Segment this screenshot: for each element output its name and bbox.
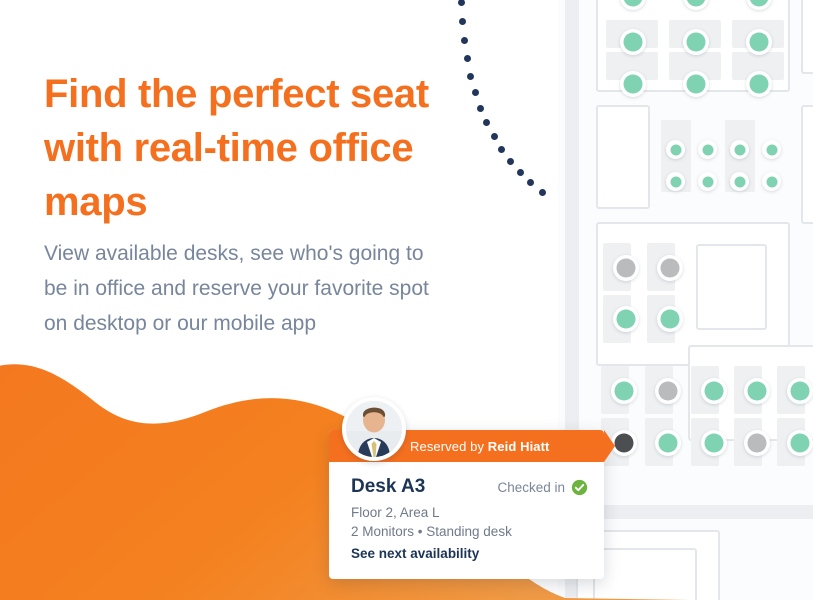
- arc-dot: [539, 189, 546, 196]
- room-mid-phone-booth: [596, 105, 650, 209]
- page-title: Find the perfect seat with real-time off…: [44, 67, 474, 229]
- card-body: Checked in Desk A3 Floor 2, Area L 2 Mon…: [329, 462, 604, 579]
- seat-marker-dot: [624, 33, 643, 52]
- seat-marker-available[interactable]: [683, 29, 709, 55]
- seat-marker-available[interactable]: [701, 378, 727, 404]
- seat-marker-dot: [624, 75, 643, 94]
- room-south-outline-inner: [593, 548, 697, 600]
- hero-illustration: Find the perfect seat with real-time off…: [0, 0, 813, 600]
- seat-marker-dot: [766, 176, 777, 187]
- arc-dot: [517, 169, 524, 176]
- seat-marker-available[interactable]: [683, 71, 709, 97]
- dotted-pointer-arc: [440, 0, 560, 204]
- seat-marker-dot: [624, 0, 643, 7]
- desk-location: Floor 2, Area L: [351, 503, 588, 522]
- seat-marker-dot: [750, 75, 769, 94]
- seat-marker-available[interactable]: [620, 29, 646, 55]
- seat-marker-available[interactable]: [657, 306, 683, 332]
- seat-marker-available[interactable]: [620, 71, 646, 97]
- avatar: [342, 397, 406, 461]
- room-central-inner: [696, 244, 767, 330]
- seat-marker-dot: [661, 310, 680, 329]
- arc-dot: [458, 0, 465, 6]
- arc-dot: [507, 158, 514, 165]
- card-reservation-banner: Reserved by Reid Hiatt: [329, 430, 604, 462]
- seat-marker-dot: [670, 176, 681, 187]
- seat-marker-available[interactable]: [746, 29, 772, 55]
- seat-marker-dot: [766, 144, 777, 155]
- seat-marker-dot: [670, 144, 681, 155]
- room-mid-east-b: [801, 105, 813, 224]
- arc-dot: [467, 73, 474, 80]
- seat-marker-occupied[interactable]: [744, 430, 770, 456]
- seat-marker-available[interactable]: [730, 172, 749, 191]
- seat-marker-dot: [659, 382, 678, 401]
- arc-dot: [472, 89, 479, 96]
- seat-marker-available[interactable]: [746, 71, 772, 97]
- seat-marker-dot: [750, 33, 769, 52]
- seat-marker-available[interactable]: [701, 430, 727, 456]
- reservation-banner-text: Reserved by Reid Hiatt: [410, 439, 549, 454]
- arc-dot: [498, 146, 505, 153]
- seat-marker-available[interactable]: [744, 378, 770, 404]
- seat-marker-dot: [702, 144, 713, 155]
- arc-dot: [483, 119, 490, 126]
- seat-marker-dot: [687, 0, 706, 7]
- desk-detail-card[interactable]: Reserved by Reid Hiatt Checked in Desk A…: [329, 430, 604, 579]
- page-subtitle: View available desks, see who's going to…: [44, 236, 434, 341]
- seat-marker-dot: [661, 259, 680, 278]
- seat-marker-dot: [734, 144, 745, 155]
- seat-marker-dot: [702, 176, 713, 187]
- seat-marker-available[interactable]: [666, 140, 685, 159]
- seat-marker-available[interactable]: [787, 430, 813, 456]
- seat-marker-dot: [617, 259, 636, 278]
- seat-marker-dot: [705, 434, 724, 453]
- seat-marker-occupied[interactable]: [613, 255, 639, 281]
- seat-marker-available[interactable]: [698, 172, 717, 191]
- seat-marker-dot: [687, 33, 706, 52]
- reserved-by-name: Reid Hiatt: [488, 439, 550, 454]
- check-circle-icon: [571, 479, 588, 496]
- arc-dot: [459, 18, 466, 25]
- reid-hiatt-avatar-photo: [346, 401, 402, 457]
- seat-marker-available[interactable]: [762, 172, 781, 191]
- see-next-availability-link[interactable]: See next availability: [351, 544, 479, 563]
- arc-dot: [527, 179, 534, 186]
- seat-marker-available[interactable]: [787, 378, 813, 404]
- seat-marker-dot: [748, 382, 767, 401]
- seat-marker-dot: [615, 382, 634, 401]
- arc-dot: [464, 55, 471, 62]
- status-label: Checked in: [497, 480, 565, 495]
- seat-marker-dot: [659, 434, 678, 453]
- desk-amenities: 2 Monitors • Standing desk: [351, 522, 588, 541]
- seat-marker-occupied[interactable]: [657, 255, 683, 281]
- reserved-by-label: Reserved by: [410, 439, 488, 454]
- room-north-east-a: [801, 0, 813, 74]
- seat-marker-dot: [734, 176, 745, 187]
- arc-dot: [461, 37, 468, 44]
- seat-marker-dot: [615, 434, 634, 453]
- seat-marker-dot: [791, 382, 810, 401]
- banner-pointer-tail: [604, 430, 615, 462]
- arc-dot: [491, 133, 498, 140]
- seat-marker-available[interactable]: [762, 140, 781, 159]
- arc-dot: [477, 105, 484, 112]
- seat-marker-dot: [791, 434, 810, 453]
- seat-marker-available[interactable]: [655, 430, 681, 456]
- seat-marker-available[interactable]: [698, 140, 717, 159]
- seat-marker-dot: [687, 75, 706, 94]
- status-badge: Checked in: [497, 479, 588, 496]
- seat-marker-available[interactable]: [666, 172, 685, 191]
- seat-marker-occupied[interactable]: [655, 378, 681, 404]
- seat-marker-available[interactable]: [613, 306, 639, 332]
- seat-marker-dot: [617, 310, 636, 329]
- seat-marker-dot: [748, 434, 767, 453]
- seat-marker-available[interactable]: [730, 140, 749, 159]
- seat-marker-dot: [705, 382, 724, 401]
- seat-marker-available[interactable]: [611, 378, 637, 404]
- seat-marker-dot: [750, 0, 769, 7]
